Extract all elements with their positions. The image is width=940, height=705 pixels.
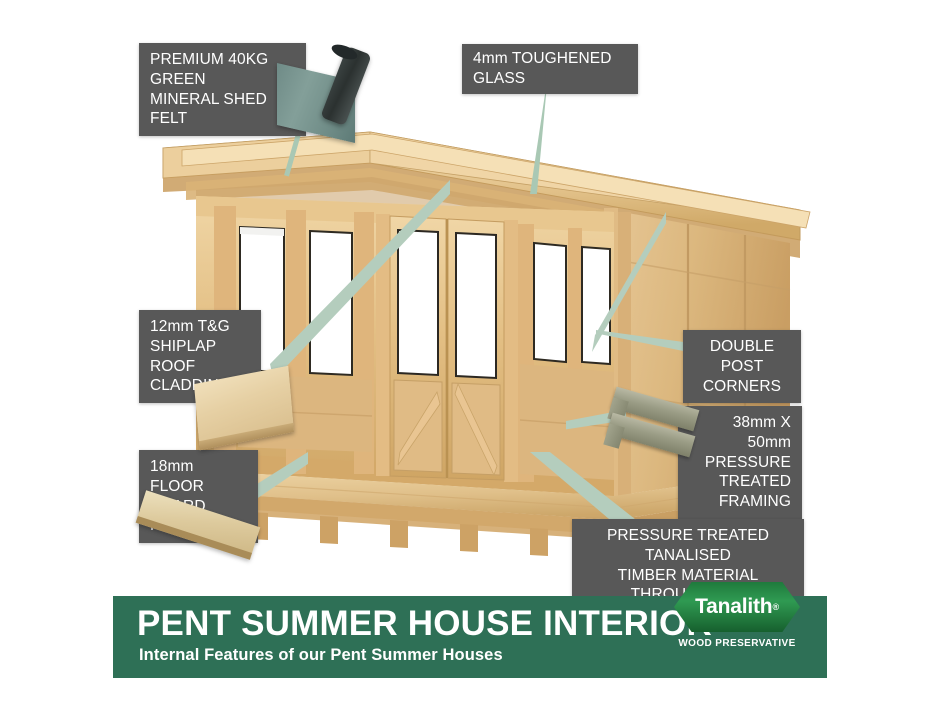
infographic-page: PREMIUM 40KG GREEN MINERAL SHED FELT 4mm…: [0, 0, 940, 705]
window-bank-right: [518, 224, 614, 484]
tanalith-logo: Tanalith® WOOD PRESERVATIVE: [669, 582, 805, 662]
page-title: PENT SUMMER HOUSE INTERIOR: [137, 606, 712, 641]
tanalith-hexagon: Tanalith®: [674, 582, 800, 632]
footer-banner: PENT SUMMER HOUSE INTERIOR Internal Feat…: [113, 596, 827, 678]
sample-roof-felt: [277, 44, 387, 144]
tanalith-wordmark: Tanalith: [695, 595, 772, 619]
sample-framing-battens: [608, 396, 704, 468]
floor-plank-edge: [136, 490, 261, 559]
page-subtitle: Internal Features of our Pent Summer Hou…: [139, 646, 503, 665]
shiplap-board: [194, 366, 294, 450]
sample-floor-plank: [138, 500, 260, 576]
tanalith-tagline: WOOD PRESERVATIVE: [669, 638, 805, 649]
callout-double-post-corners: DOUBLE POST CORNERS: [683, 330, 801, 403]
sample-shiplap-board: [196, 375, 292, 441]
tanalith-brand-text: Tanalith®: [674, 582, 800, 632]
registered-trademark-icon: ®: [772, 602, 778, 612]
callout-toughened-glass: 4mm TOUGHENED GLASS: [462, 44, 638, 94]
double-doors: [376, 214, 518, 482]
